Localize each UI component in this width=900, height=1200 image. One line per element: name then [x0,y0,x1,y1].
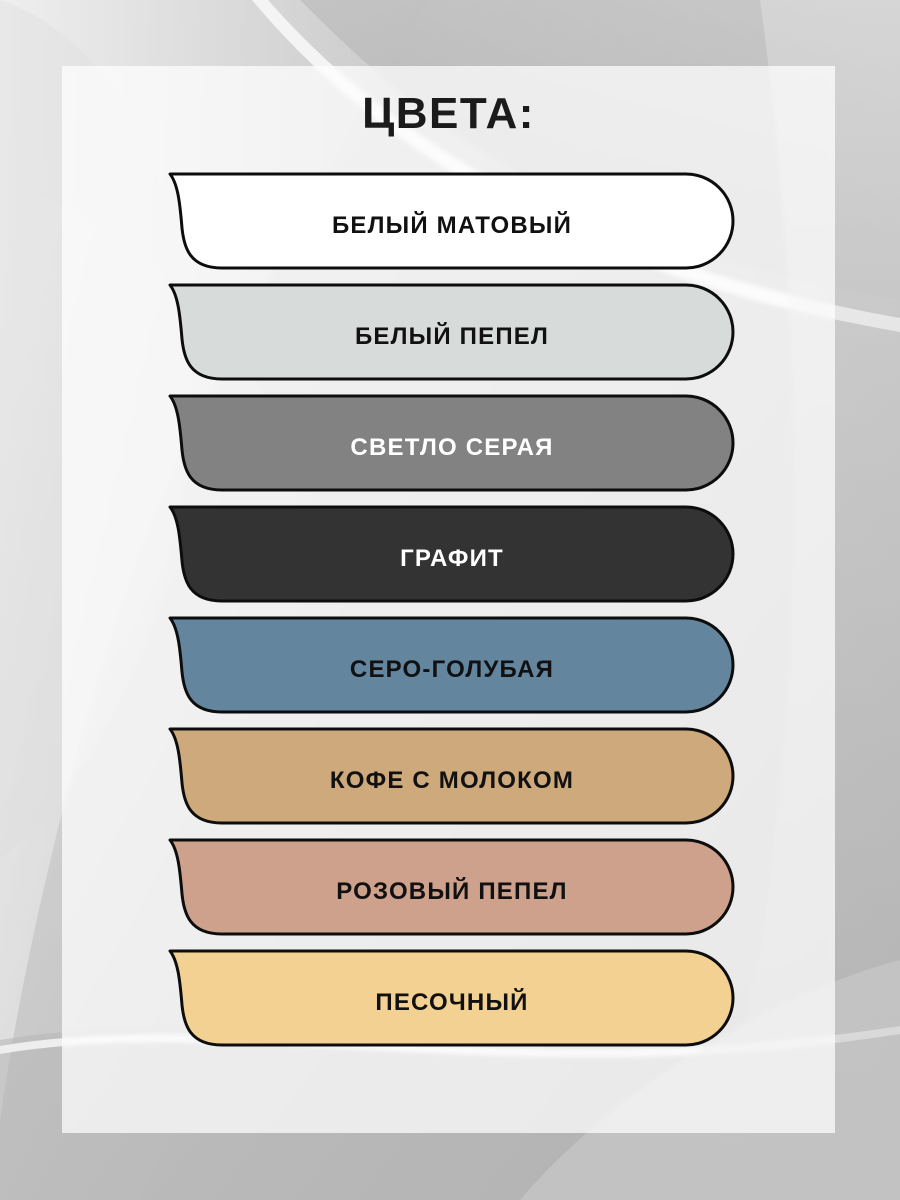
swatch-path-8 [170,951,733,1045]
color-swatch-item[interactable]: ГРАФИТ [62,503,835,614]
swatch-shape [62,725,835,836]
swatch-path-4 [170,507,733,601]
swatch-shape [62,947,835,1058]
swatch-path-6 [170,729,733,823]
swatch-path-5 [170,618,733,712]
color-swatch-item[interactable]: ПЕСОЧНЫЙ [62,947,835,1058]
color-chart-page: ЦВЕТА: БЕЛЫЙ МАТОВЫЙ БЕЛЫЙ ПЕПЕЛ [0,0,900,1200]
color-swatch-item[interactable]: СВЕТЛО СЕРАЯ [62,392,835,503]
page-title: ЦВЕТА: [62,92,835,136]
color-swatch-item[interactable]: БЕЛЫЙ МАТОВЫЙ [62,170,835,281]
color-swatch-list: БЕЛЫЙ МАТОВЫЙ БЕЛЫЙ ПЕПЕЛ СВЕТЛО СЕРАЯ [62,170,835,1058]
swatch-shape [62,392,835,503]
swatch-path-2 [170,285,733,379]
swatch-shape [62,281,835,392]
color-swatch-item[interactable]: БЕЛЫЙ ПЕПЕЛ [62,281,835,392]
swatch-shape [62,614,835,725]
swatch-path-1 [170,174,733,268]
color-swatch-item[interactable]: КОФЕ С МОЛОКОМ [62,725,835,836]
swatch-path-7 [170,840,733,934]
color-swatch-item[interactable]: РОЗОВЫЙ ПЕПЕЛ [62,836,835,947]
content-card: ЦВЕТА: БЕЛЫЙ МАТОВЫЙ БЕЛЫЙ ПЕПЕЛ [62,66,835,1133]
swatch-shape [62,170,835,281]
swatch-shape [62,836,835,947]
swatch-path-3 [170,396,733,490]
swatch-shape [62,503,835,614]
color-swatch-item[interactable]: СЕРО-ГОЛУБАЯ [62,614,835,725]
